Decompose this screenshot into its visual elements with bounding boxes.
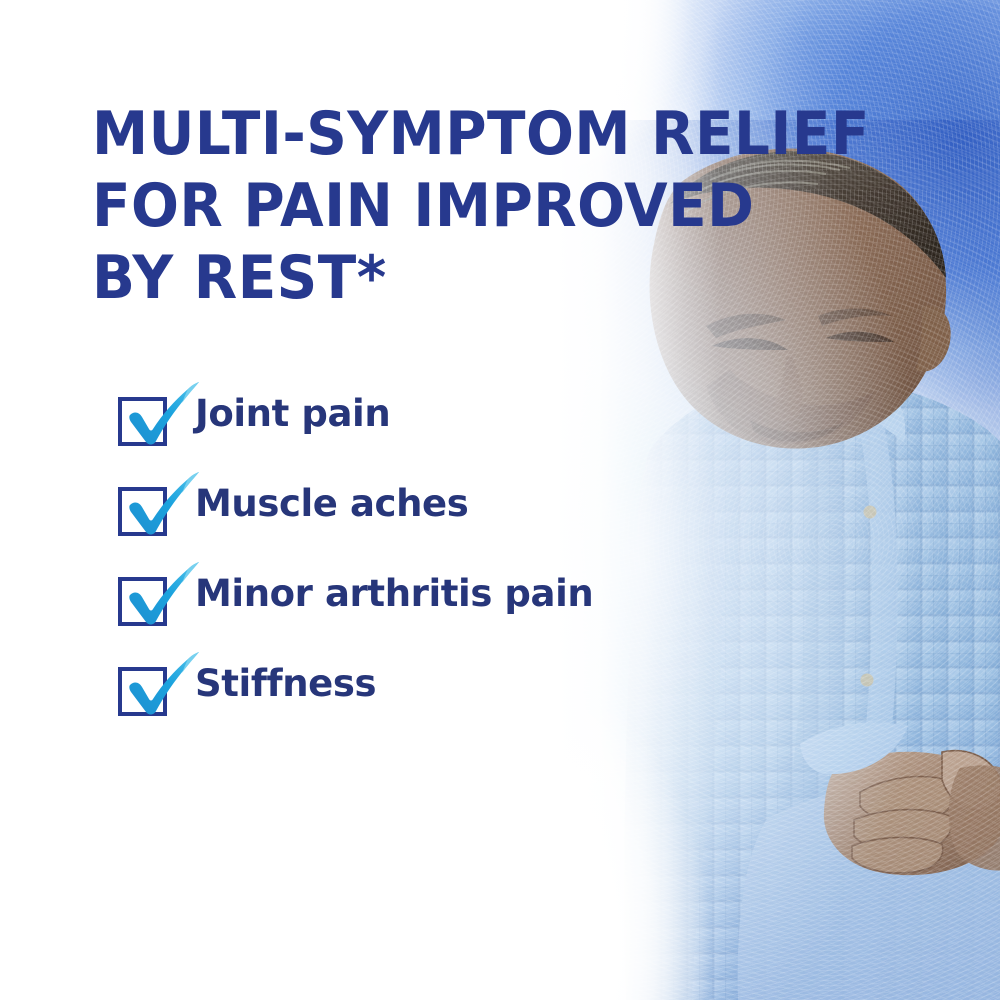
- list-item: Joint pain: [118, 382, 638, 444]
- checkmark-icon: [116, 375, 202, 451]
- product-benefit-banner: MULTI-SYMPTOM RELIEF FOR PAIN IMPROVED B…: [0, 0, 1000, 1000]
- content-column: MULTI-SYMPTOM RELIEF FOR PAIN IMPROVED B…: [0, 0, 640, 1000]
- checkbox-stiffness[interactable]: [118, 659, 167, 708]
- headline-line-1: MULTI-SYMPTOM RELIEF: [92, 98, 694, 170]
- headline-line-2: FOR PAIN IMPROVED: [92, 170, 694, 242]
- symptom-checklist: Joint pain Muscle aches: [118, 382, 638, 714]
- checkmark-icon: [116, 465, 202, 541]
- checkbox-minor-arthritis-pain[interactable]: [118, 569, 167, 618]
- list-item: Stiffness: [118, 652, 638, 714]
- list-item-label: Stiffness: [195, 662, 376, 705]
- page-title: MULTI-SYMPTOM RELIEF FOR PAIN IMPROVED B…: [92, 98, 732, 314]
- checkbox-muscle-aches[interactable]: [118, 479, 167, 528]
- list-item: Muscle aches: [118, 472, 638, 534]
- list-item: Minor arthritis pain: [118, 562, 638, 624]
- list-item-label: Minor arthritis pain: [195, 572, 593, 615]
- checkmark-icon: [116, 645, 202, 721]
- headline-line-3: BY REST*: [92, 242, 694, 314]
- list-item-label: Muscle aches: [195, 482, 468, 525]
- list-item-label: Joint pain: [195, 392, 390, 435]
- checkmark-icon: [116, 555, 202, 631]
- checkbox-joint-pain[interactable]: [118, 389, 167, 438]
